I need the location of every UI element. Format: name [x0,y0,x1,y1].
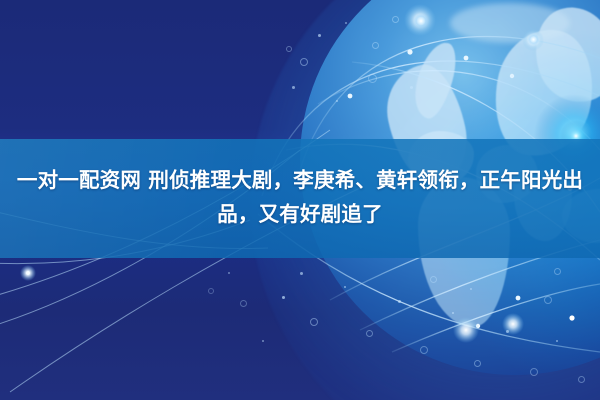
caption-container: 一对一配资网 刑侦推理大剧，李庚希、黄轩领衔，正午阳光出品，又有好剧追了 [0,139,600,258]
promo-banner: 一对一配资网 刑侦推理大剧，李庚希、黄轩领衔，正午阳光出品，又有好剧追了 [0,0,600,400]
caption-text: 一对一配资网 刑侦推理大剧，李庚希、黄轩领衔，正午阳光出品，又有好剧追了 [13,163,588,231]
